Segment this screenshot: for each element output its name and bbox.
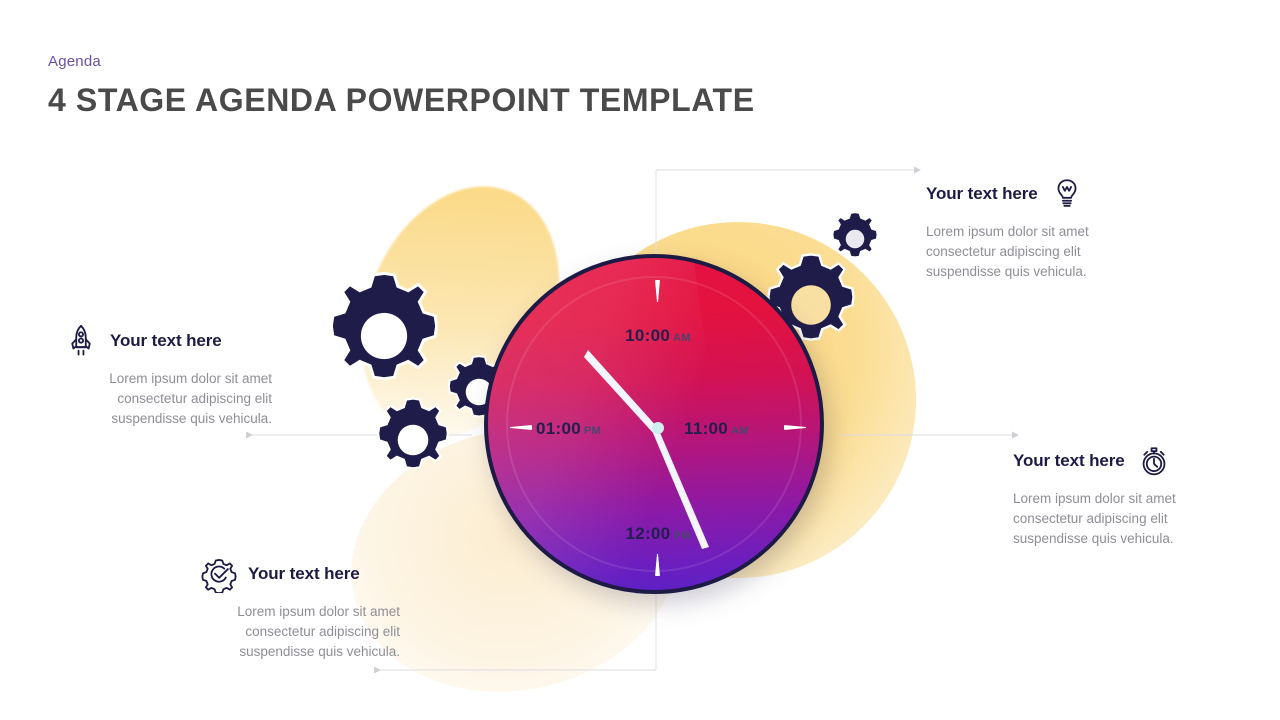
stopwatch-icon: [1135, 442, 1173, 480]
gear-check-icon: [200, 555, 238, 593]
lightbulb-icon: [1048, 175, 1086, 213]
clock-face: 10:00AM 11:00AM 12:00PM 01:00PM: [484, 254, 824, 594]
callout-right-header: Your text here: [1013, 442, 1225, 480]
clock-center-cap: [652, 422, 664, 434]
rocket-icon: [62, 322, 100, 360]
clock-tick-top: [655, 280, 660, 302]
clock-time-right: 11:00AM: [684, 419, 749, 439]
callout-top-right[interactable]: Your text here Lorem ipsum dolor sit ame…: [926, 175, 1141, 282]
callout-bottom-left[interactable]: Your text here Lorem ipsum dolor sit ame…: [200, 555, 400, 662]
callout-left-title: Your text here: [110, 331, 222, 351]
clock-time-top-meridiem: AM: [673, 332, 691, 344]
clock-tick-bottom: [655, 554, 660, 576]
clock-time-left-value: 01:00: [536, 419, 581, 438]
callout-bottom-left-title: Your text here: [248, 564, 360, 584]
callout-right-body: Lorem ipsum dolor sit amet consectetur a…: [1013, 489, 1225, 549]
callout-right[interactable]: Your text here Lorem ipsum dolor sit ame…: [1013, 442, 1225, 549]
callout-top-right-title: Your text here: [926, 184, 1038, 204]
clock-time-left-meridiem: PM: [584, 425, 601, 437]
clock-time-right-value: 11:00: [684, 419, 728, 438]
clock-tick-right: [784, 425, 806, 430]
callout-left-body: Lorem ipsum dolor sit amet consectetur a…: [62, 369, 272, 429]
gear-large-left: [316, 268, 452, 404]
clock-time-right-meridiem: AM: [731, 425, 749, 437]
clock-tick-left: [510, 425, 532, 430]
clock-time-bottom: 12:00PM: [606, 524, 710, 544]
clock-time-top-value: 10:00: [625, 326, 670, 345]
slide-canvas: Agenda 4 STAGE AGENDA POWERPOINT TEMPLAT…: [0, 0, 1280, 720]
callout-left-header: Your text here: [62, 322, 272, 360]
callout-bottom-left-body: Lorem ipsum dolor sit amet consectetur a…: [200, 602, 400, 662]
gear-small-lower-left: [368, 395, 458, 485]
clock-time-top: 10:00AM: [606, 326, 710, 346]
callout-right-title: Your text here: [1013, 451, 1125, 471]
callout-bottom-left-header: Your text here: [200, 555, 400, 593]
callout-top-right-body: Lorem ipsum dolor sit amet consectetur a…: [926, 222, 1141, 282]
clock-time-bottom-meridiem: PM: [673, 530, 690, 542]
agenda-clock: 10:00AM 11:00AM 12:00PM 01:00PM: [484, 254, 836, 606]
clock-time-bottom-value: 12:00: [625, 524, 670, 543]
callout-left[interactable]: Your text here Lorem ipsum dolor sit ame…: [62, 322, 272, 429]
callout-top-right-header: Your text here: [926, 175, 1141, 213]
clock-time-left: 01:00PM: [536, 419, 601, 439]
